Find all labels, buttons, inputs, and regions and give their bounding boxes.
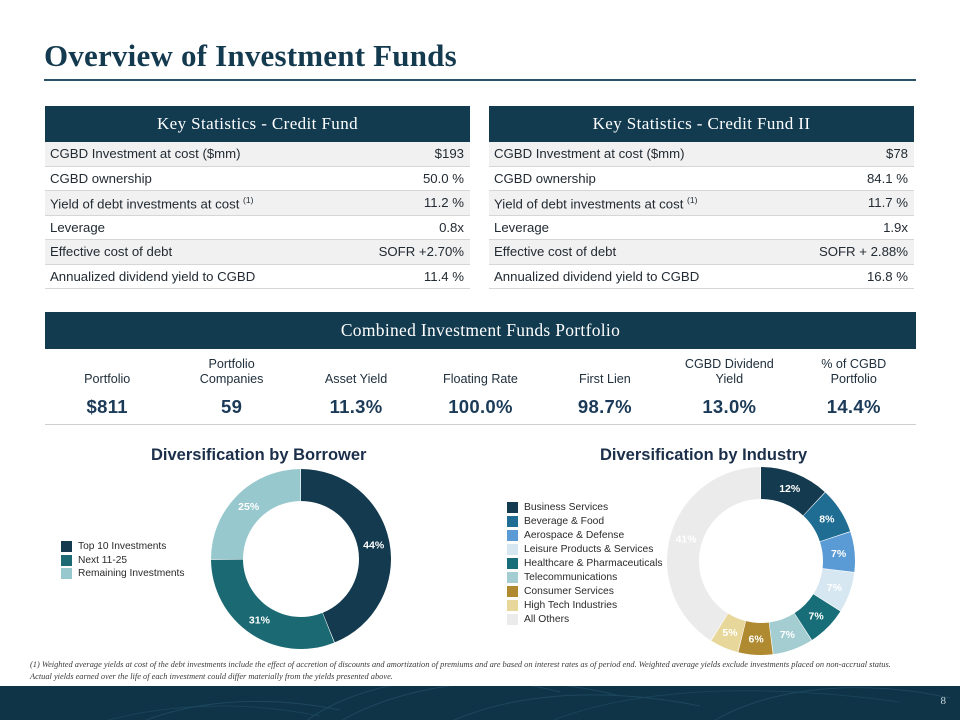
table-row-value: $193	[435, 146, 464, 161]
table-row-value: 0.8x	[439, 220, 464, 235]
table-row-label: Leverage	[494, 220, 549, 235]
metric-label-line: Portfolio	[209, 357, 255, 372]
table-row-value: SOFR +2.70%	[379, 244, 464, 259]
table-row-label: Annualized dividend yield to CGBD	[50, 269, 255, 284]
legend-item[interactable]: Aerospace & Defense	[507, 529, 663, 542]
slide-canvas: Overview of Investment Funds Key Statist…	[0, 0, 960, 720]
donut-slice-label: 7%	[809, 611, 825, 623]
metric-column: PortfolioCompanies59	[169, 355, 293, 418]
footnote-marker: (1)	[243, 195, 253, 205]
metric-column: Portfolio$811	[45, 355, 169, 418]
donut-slice-label: 6%	[749, 633, 765, 645]
legend-label: Remaining Investments	[78, 568, 184, 579]
donut-slice-label: 8%	[819, 514, 835, 526]
table-row: CGBD Investment at cost ($mm)$78	[489, 142, 914, 167]
footnote: (1) Weighted average yields at cost of t…	[30, 659, 910, 682]
title-divider	[44, 79, 916, 81]
legend-label: High Tech Industries	[524, 600, 617, 611]
legend-swatch-icon	[507, 516, 518, 527]
metric-column: Asset Yield11.3%	[294, 355, 418, 418]
donut-chart-borrower: 44%31%25%	[210, 468, 392, 655]
donut-chart-industry: 12%8%7%7%7%7%6%5%41%	[666, 466, 856, 661]
table-row: CGBD ownership50.0 %	[45, 167, 470, 192]
combined-investment-funds-portfolio: Combined Investment Funds Portfolio Port…	[45, 312, 916, 425]
table-row: Leverage0.8x	[45, 216, 470, 241]
table-row-value: $78	[886, 146, 908, 161]
table-row: CGBD ownership84.1 %	[489, 167, 914, 192]
table-row: Effective cost of debtSOFR + 2.88%	[489, 240, 914, 265]
metric-value: 59	[169, 396, 293, 418]
legend-swatch-icon	[61, 568, 72, 579]
table-header-credit-fund: Key Statistics - Credit Fund	[45, 106, 470, 142]
table-row-value: 1.9x	[883, 220, 908, 235]
table-row-label: Yield of debt investments at cost (1)	[494, 195, 697, 211]
donut-slice-label: 44%	[363, 540, 385, 552]
table-row-value: 16.8 %	[867, 269, 908, 284]
metric-column: CGBD DividendYield13.0%	[667, 355, 791, 418]
donut-slice-label: 5%	[722, 627, 738, 639]
slide-footer: 8	[0, 686, 960, 720]
donut-slice-label: 25%	[238, 501, 260, 513]
donut-svg: 44%31%25%	[210, 468, 392, 650]
table-row-value: SOFR + 2.88%	[819, 244, 908, 259]
donut-slice-label: 12%	[779, 483, 801, 495]
footnote-marker: (1)	[687, 195, 697, 205]
legend-swatch-icon	[507, 586, 518, 597]
donut-slice-label: 7%	[827, 582, 843, 594]
legend-item[interactable]: Top 10 Investments	[61, 540, 184, 553]
table-row-value: 11.7 %	[868, 195, 908, 210]
metric-value: 100.0%	[418, 396, 542, 418]
legend-borrower: Top 10 InvestmentsNext 11-25Remaining In…	[61, 540, 184, 581]
legend-label: Consumer Services	[524, 586, 614, 597]
table-row: Leverage1.9x	[489, 216, 914, 241]
donut-slice-label: 31%	[249, 615, 271, 627]
legend-item[interactable]: Next 11-25	[61, 554, 184, 567]
legend-item[interactable]: Remaining Investments	[61, 567, 184, 580]
table-row: Annualized dividend yield to CGBD11.4 %	[45, 265, 470, 290]
table-row-label: CGBD Investment at cost ($mm)	[494, 146, 685, 161]
donut-slice[interactable]	[211, 559, 334, 649]
table-row: Annualized dividend yield to CGBD16.8 %	[489, 265, 914, 290]
metric-label-line: Asset Yield	[325, 372, 387, 387]
table-row: Yield of debt investments at cost (1)11.…	[489, 191, 914, 216]
combined-portfolio-header: Combined Investment Funds Portfolio	[45, 312, 916, 349]
legend-swatch-icon	[507, 530, 518, 541]
legend-label: Business Services	[524, 502, 608, 513]
table-row-label: Effective cost of debt	[494, 244, 616, 259]
table-row-label: Yield of debt investments at cost (1)	[50, 195, 253, 211]
legend-item[interactable]: Business Services	[507, 501, 663, 514]
metric-label: CGBD DividendYield	[667, 355, 791, 387]
metric-label: Floating Rate	[418, 355, 542, 387]
legend-swatch-icon	[507, 572, 518, 583]
legend-item[interactable]: High Tech Industries	[507, 599, 663, 612]
metric-label: Asset Yield	[294, 355, 418, 387]
metric-label: % of CGBDPortfolio	[792, 355, 916, 387]
legend-label: Top 10 Investments	[78, 541, 166, 552]
legend-label: Aerospace & Defense	[524, 530, 624, 541]
metric-label-line: Companies	[200, 372, 264, 387]
donut-slice[interactable]	[211, 469, 301, 559]
metric-label-line: Portfolio	[831, 372, 877, 387]
legend-label: Healthcare & Pharmaceuticals	[524, 558, 663, 569]
legend-item[interactable]: Telecommunications	[507, 571, 663, 584]
legend-swatch-icon	[507, 614, 518, 625]
chart-title-borrower: Diversification by Borrower	[151, 446, 366, 465]
table-row: CGBD Investment at cost ($mm)$193	[45, 142, 470, 167]
metric-label-line: CGBD Dividend	[685, 357, 774, 372]
table-row-value: 50.0 %	[423, 171, 464, 186]
legend-label: Telecommunications	[524, 572, 617, 583]
table-body-credit-fund-ii: CGBD Investment at cost ($mm)$78CGBD own…	[489, 142, 914, 289]
legend-item[interactable]: Beverage & Food	[507, 515, 663, 528]
donut-slice-label: 41%	[676, 534, 698, 546]
legend-label: All Others	[524, 614, 569, 625]
metric-column: First Lien98.7%	[543, 355, 667, 418]
legend-label: Next 11-25	[78, 555, 127, 566]
page-number: 8	[941, 695, 947, 707]
chart-title-industry: Diversification by Industry	[600, 446, 807, 465]
legend-swatch-icon	[61, 555, 72, 566]
table-row-value: 11.2 %	[424, 195, 464, 210]
footer-decoration-arcs	[0, 686, 960, 720]
key-statistics-credit-fund-table: Key Statistics - Credit Fund CGBD Invest…	[45, 106, 470, 289]
table-row: Effective cost of debtSOFR +2.70%	[45, 240, 470, 265]
table-row-label: CGBD ownership	[494, 171, 596, 186]
table-row-label: Annualized dividend yield to CGBD	[494, 269, 699, 284]
metric-value: 11.3%	[294, 396, 418, 418]
table-row-label: CGBD Investment at cost ($mm)	[50, 146, 241, 161]
table-row-label: CGBD ownership	[50, 171, 152, 186]
metric-label-line: Portfolio	[84, 372, 130, 387]
legend-item[interactable]: Leisure Products & Services	[507, 543, 663, 556]
metric-label: Portfolio	[45, 355, 169, 387]
metric-label-line: Floating Rate	[443, 372, 518, 387]
key-statistics-credit-fund-ii-table: Key Statistics - Credit Fund II CGBD Inv…	[489, 106, 914, 289]
metric-value: $811	[45, 396, 169, 418]
legend-swatch-icon	[61, 541, 72, 552]
metric-column: % of CGBDPortfolio14.4%	[792, 355, 916, 418]
legend-label: Leisure Products & Services	[524, 544, 653, 555]
combined-portfolio-metrics: Portfolio$811PortfolioCompanies59Asset Y…	[45, 349, 916, 425]
metric-label-line: First Lien	[579, 372, 631, 387]
table-row-label: Effective cost of debt	[50, 244, 172, 259]
legend-swatch-icon	[507, 544, 518, 555]
legend-industry: Business ServicesBeverage & FoodAerospac…	[507, 501, 663, 627]
legend-item[interactable]: All Others	[507, 613, 663, 626]
metric-label: First Lien	[543, 355, 667, 387]
metric-value: 98.7%	[543, 396, 667, 418]
metric-value: 14.4%	[792, 396, 916, 418]
table-row: Yield of debt investments at cost (1)11.…	[45, 191, 470, 216]
table-body-credit-fund: CGBD Investment at cost ($mm)$193CGBD ow…	[45, 142, 470, 289]
page-title: Overview of Investment Funds	[44, 38, 457, 74]
metric-label-line: Yield	[716, 372, 744, 387]
metric-column: Floating Rate100.0%	[418, 355, 542, 418]
table-row-value: 84.1 %	[867, 171, 908, 186]
table-row-label: Leverage	[50, 220, 105, 235]
legend-swatch-icon	[507, 502, 518, 513]
donut-slice[interactable]	[667, 467, 761, 640]
table-header-credit-fund-ii: Key Statistics - Credit Fund II	[489, 106, 914, 142]
metric-label-line: % of CGBD	[821, 357, 886, 372]
legend-swatch-icon	[507, 600, 518, 611]
donut-slice-label: 7%	[831, 548, 847, 560]
metric-label: PortfolioCompanies	[169, 355, 293, 387]
legend-label: Beverage & Food	[524, 516, 604, 527]
legend-item[interactable]: Consumer Services	[507, 585, 663, 598]
legend-item[interactable]: Healthcare & Pharmaceuticals	[507, 557, 663, 570]
legend-swatch-icon	[507, 558, 518, 569]
donut-slice-label: 7%	[780, 629, 796, 641]
table-row-value: 11.4 %	[424, 269, 464, 284]
metric-value: 13.0%	[667, 396, 791, 418]
donut-svg: 12%8%7%7%7%7%6%5%41%	[666, 466, 856, 656]
